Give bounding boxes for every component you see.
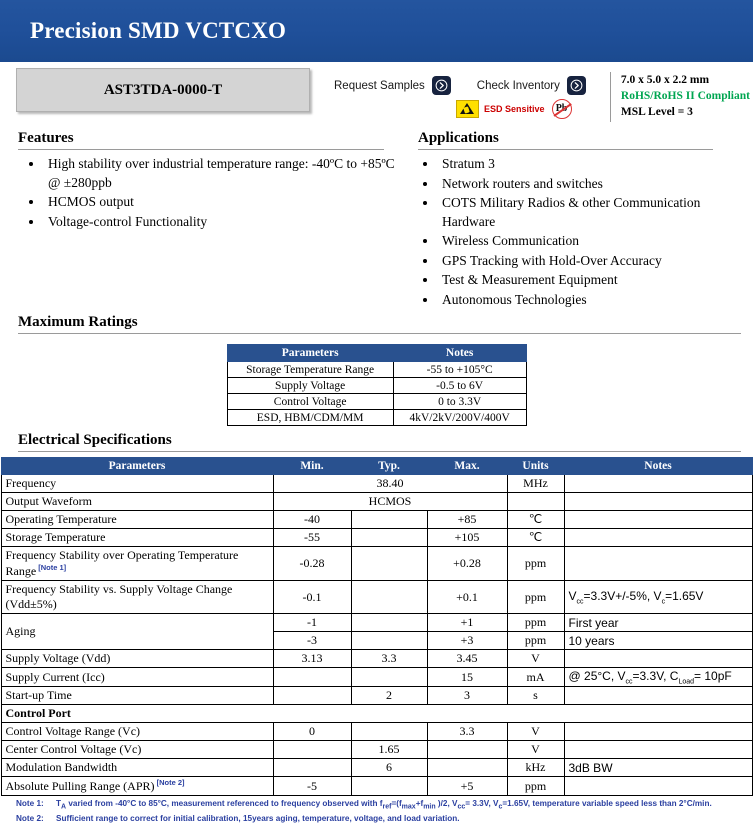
page-banner: Precision SMD VCTCXO (0, 0, 753, 62)
units-cell: V (507, 650, 564, 668)
typ-cell: 2 (351, 687, 427, 705)
notes-cell (564, 687, 752, 705)
electrical-rule (18, 451, 741, 452)
features-section: Features High stability over industrial … (0, 130, 400, 310)
features-heading: Features (0, 130, 400, 149)
notes-cell (564, 741, 752, 759)
min-cell (273, 668, 351, 687)
typ-cell (351, 529, 427, 547)
notes-cell: Vcc=3.3V+/-5%, Vc=1.65V (564, 581, 752, 614)
features-list: High stability over industrial temperatu… (0, 155, 400, 231)
notes-cell (564, 723, 752, 741)
footnote-label: Note 2: (4, 813, 56, 824)
page-title: Precision SMD VCTCXO (30, 18, 286, 44)
table-row: Supply Voltage-0.5 to 6V (227, 378, 526, 394)
max-cell: 3.3 (427, 723, 507, 741)
units-cell: V (507, 723, 564, 741)
column-header: Typ. (351, 458, 427, 475)
footnote-marker: [Note 1] (36, 563, 66, 572)
request-samples-link[interactable]: Request Samples (334, 76, 451, 95)
electrical-heading: Electrical Specifications (0, 432, 753, 451)
notes-cell: @ 25°C, Vcc=3.3V, CLoad= 10pF (564, 668, 752, 687)
applications-heading: Applications (400, 130, 753, 149)
table-row: Supply Voltage (Vdd)3.133.33.45V (1, 650, 752, 668)
table-header-row: ParametersMin.Typ.Max.UnitsNotes (1, 458, 752, 475)
notes-cell (564, 547, 752, 581)
application-item: Network routers and switches (438, 175, 753, 194)
table-row: Control Port (1, 705, 752, 723)
table-row: Frequency Stability vs. Supply Voltage C… (1, 581, 752, 614)
max-cell: 15 (427, 668, 507, 687)
column-header: Parameters (1, 458, 273, 475)
table-row: Output WaveformHCMOS (1, 493, 752, 511)
divider (610, 72, 611, 122)
max-cell: +1 (427, 614, 507, 632)
table-row: Storage Temperature Range-55 to +105°C (227, 362, 526, 378)
feature-item: HCMOS output (44, 193, 400, 212)
footnotes: Note 1:TA varied from -40°C to 85°C, mea… (4, 798, 753, 824)
min-cell (273, 759, 351, 777)
footnote-marker: [Note 2] (155, 778, 185, 787)
parameter-cell: Supply Voltage (Vdd) (1, 650, 273, 668)
table-header-row: ParametersNotes (227, 345, 526, 362)
notes-cell: 3dB BW (564, 759, 752, 777)
check-inventory-label: Check Inventory (477, 80, 560, 92)
max-cell: +0.28 (427, 547, 507, 581)
units-cell: kHz (507, 759, 564, 777)
units-cell: ppm (507, 777, 564, 796)
max-cell: +3 (427, 632, 507, 650)
max-cell (427, 759, 507, 777)
action-links: Request Samples Check Inventory (334, 68, 596, 119)
notes-cell (564, 511, 752, 529)
applications-section: Applications Stratum 3Network routers an… (400, 130, 753, 310)
table-section-header: Control Port (1, 705, 752, 723)
applications-rule (418, 149, 713, 150)
max-cell: +0.1 (427, 581, 507, 614)
application-item: Stratum 3 (438, 155, 753, 174)
parameter-cell: Absolute Pulling Range (APR) [Note 2] (1, 777, 273, 796)
units-cell: V (507, 741, 564, 759)
min-cell: -3 (273, 632, 351, 650)
min-cell: -55 (273, 529, 351, 547)
typ-cell (351, 581, 427, 614)
table-cell: 0 to 3.3V (393, 394, 526, 410)
max-ratings-heading: Maximum Ratings (0, 314, 753, 333)
parameter-cell: Control Voltage Range (Vc) (1, 723, 273, 741)
parameter-cell: Supply Current (Icc) (1, 668, 273, 687)
rohs-compliance: RoHS/RoHS II Compliant (621, 88, 750, 104)
table-row: Control Voltage0 to 3.3V (227, 394, 526, 410)
parameter-cell: Output Waveform (1, 493, 273, 511)
parameter-cell: Center Control Voltage (Vc) (1, 741, 273, 759)
units-cell: mA (507, 668, 564, 687)
max-cell: +85 (427, 511, 507, 529)
min-cell (273, 741, 351, 759)
table-row: Control Voltage Range (Vc)03.3V (1, 723, 752, 741)
table-row: Modulation Bandwidth6kHz3dB BW (1, 759, 752, 777)
application-item: GPS Tracking with Hold-Over Accuracy (438, 252, 753, 271)
max-ratings-rule (18, 333, 741, 334)
part-number: AST3TDA-0000-T (104, 82, 222, 99)
chevron-right-icon[interactable] (432, 76, 451, 95)
typ-cell (351, 777, 427, 796)
column-header: Units (507, 458, 564, 475)
max-ratings-table: ParametersNotes Storage Temperature Rang… (227, 344, 527, 426)
parameter-cell: Start-up Time (1, 687, 273, 705)
application-item: Autonomous Technologies (438, 291, 753, 310)
parameter-cell: Frequency (1, 475, 273, 493)
table-cell: -0.5 to 6V (393, 378, 526, 394)
typ-cell (351, 614, 427, 632)
parameter-cell: Storage Temperature (1, 529, 273, 547)
action-links-row: Request Samples Check Inventory (334, 76, 596, 95)
units-cell: ppm (507, 614, 564, 632)
parameter-cell: Frequency Stability over Operating Tempe… (1, 547, 273, 581)
compliance-badges: ESD Sensitive Pb (456, 99, 596, 119)
table-cell: -55 to +105°C (393, 362, 526, 378)
feature-item: High stability over industrial temperatu… (44, 155, 400, 192)
column-header: Max. (427, 458, 507, 475)
column-header: Notes (393, 345, 526, 362)
application-item: Test & Measurement Equipment (438, 271, 753, 290)
min-cell: -5 (273, 777, 351, 796)
table-row: Supply Current (Icc)15mA@ 25°C, Vcc=3.3V… (1, 668, 752, 687)
typ-cell (351, 632, 427, 650)
application-item: Wireless Communication (438, 232, 753, 251)
electrical-table: ParametersMin.Typ.Max.UnitsNotes Frequen… (1, 457, 753, 796)
typ-cell: 1.65 (351, 741, 427, 759)
parameter-cell: Frequency Stability vs. Supply Voltage C… (1, 581, 273, 614)
part-number-box: AST3TDA-0000-T (16, 68, 310, 112)
typ-cell: 6 (351, 759, 427, 777)
table-row: Storage Temperature-55+105℃ (1, 529, 752, 547)
notes-cell (564, 493, 752, 511)
lead-free-icon: Pb (552, 99, 572, 119)
units-cell: ppm (507, 632, 564, 650)
units-cell (507, 493, 564, 511)
part-header-row: AST3TDA-0000-T Request Samples Check Inv… (0, 62, 753, 124)
min-cell (273, 687, 351, 705)
table-cell: Storage Temperature Range (227, 362, 393, 378)
typ-cell (351, 547, 427, 581)
table-cell: ESD, HBM/CDM/MM (227, 410, 393, 426)
table-row: Frequency Stability over Operating Tempe… (1, 547, 752, 581)
notes-cell (564, 777, 752, 796)
units-cell: s (507, 687, 564, 705)
table-row: Center Control Voltage (Vc)1.65V (1, 741, 752, 759)
units-cell: ppm (507, 547, 564, 581)
parameter-cell: Operating Temperature (1, 511, 273, 529)
typ-cell (351, 668, 427, 687)
electrical-section: Electrical Specifications ParametersMin.… (0, 432, 753, 824)
table-row: Operating Temperature-40+85℃ (1, 511, 752, 529)
footnote: Note 1:TA varied from -40°C to 85°C, mea… (4, 798, 753, 813)
notes-cell: 10 years (564, 632, 752, 650)
min-cell: 3.13 (273, 650, 351, 668)
parameter-cell: Aging (1, 614, 273, 650)
features-rule (18, 149, 384, 150)
min-cell: -1 (273, 614, 351, 632)
package-size: 7.0 x 5.0 x 2.2 mm (621, 72, 750, 88)
max-ratings-section: Maximum Ratings ParametersNotes Storage … (0, 314, 753, 426)
request-samples-label: Request Samples (334, 80, 425, 92)
notes-cell (564, 529, 752, 547)
esd-sensitive-icon (456, 100, 479, 118)
column-header: Parameters (227, 345, 393, 362)
column-header: Min. (273, 458, 351, 475)
msl-level: MSL Level = 3 (621, 104, 750, 120)
min-cell: 0 (273, 723, 351, 741)
applications-list: Stratum 3Network routers and switchesCOT… (400, 155, 753, 309)
typ-cell (351, 723, 427, 741)
notes-cell (564, 475, 752, 493)
package-specs: 7.0 x 5.0 x 2.2 mm RoHS/RoHS II Complian… (621, 68, 750, 120)
min-cell: -0.28 (273, 547, 351, 581)
footnote: Note 2:Sufficient range to correct for i… (4, 813, 753, 824)
units-cell: ppm (507, 581, 564, 614)
min-cell: -0.1 (273, 581, 351, 614)
max-cell: +105 (427, 529, 507, 547)
max-cell: +5 (427, 777, 507, 796)
typ-cell (351, 511, 427, 529)
table-cell: Control Voltage (227, 394, 393, 410)
max-cell (427, 741, 507, 759)
units-cell: MHz (507, 475, 564, 493)
footnote-label: Note 1: (4, 798, 56, 809)
value-cell: 38.40 (273, 475, 507, 493)
check-inventory-link[interactable]: Check Inventory (477, 76, 586, 95)
table-row: Frequency38.40MHz (1, 475, 752, 493)
notes-cell: First year (564, 614, 752, 632)
esd-sensitive-label: ESD Sensitive (484, 104, 545, 114)
table-cell: 4kV/2kV/200V/400V (393, 410, 526, 426)
table-row: ESD, HBM/CDM/MM4kV/2kV/200V/400V (227, 410, 526, 426)
features-applications: Features High stability over industrial … (0, 124, 753, 310)
parameter-cell: Modulation Bandwidth (1, 759, 273, 777)
max-cell: 3 (427, 687, 507, 705)
table-row: Start-up Time23s (1, 687, 752, 705)
typ-cell: 3.3 (351, 650, 427, 668)
min-cell: -40 (273, 511, 351, 529)
table-cell: Supply Voltage (227, 378, 393, 394)
notes-cell (564, 650, 752, 668)
table-row: Aging-1+1ppmFirst year (1, 614, 752, 632)
chevron-right-icon[interactable] (567, 76, 586, 95)
max-cell: 3.45 (427, 650, 507, 668)
units-cell: ℃ (507, 529, 564, 547)
feature-item: Voltage-control Functionality (44, 213, 400, 232)
column-header: Notes (564, 458, 752, 475)
table-row: Absolute Pulling Range (APR) [Note 2]-5+… (1, 777, 752, 796)
application-item: COTS Military Radios & other Communicati… (438, 194, 753, 231)
value-cell: HCMOS (273, 493, 507, 511)
units-cell: ℃ (507, 511, 564, 529)
